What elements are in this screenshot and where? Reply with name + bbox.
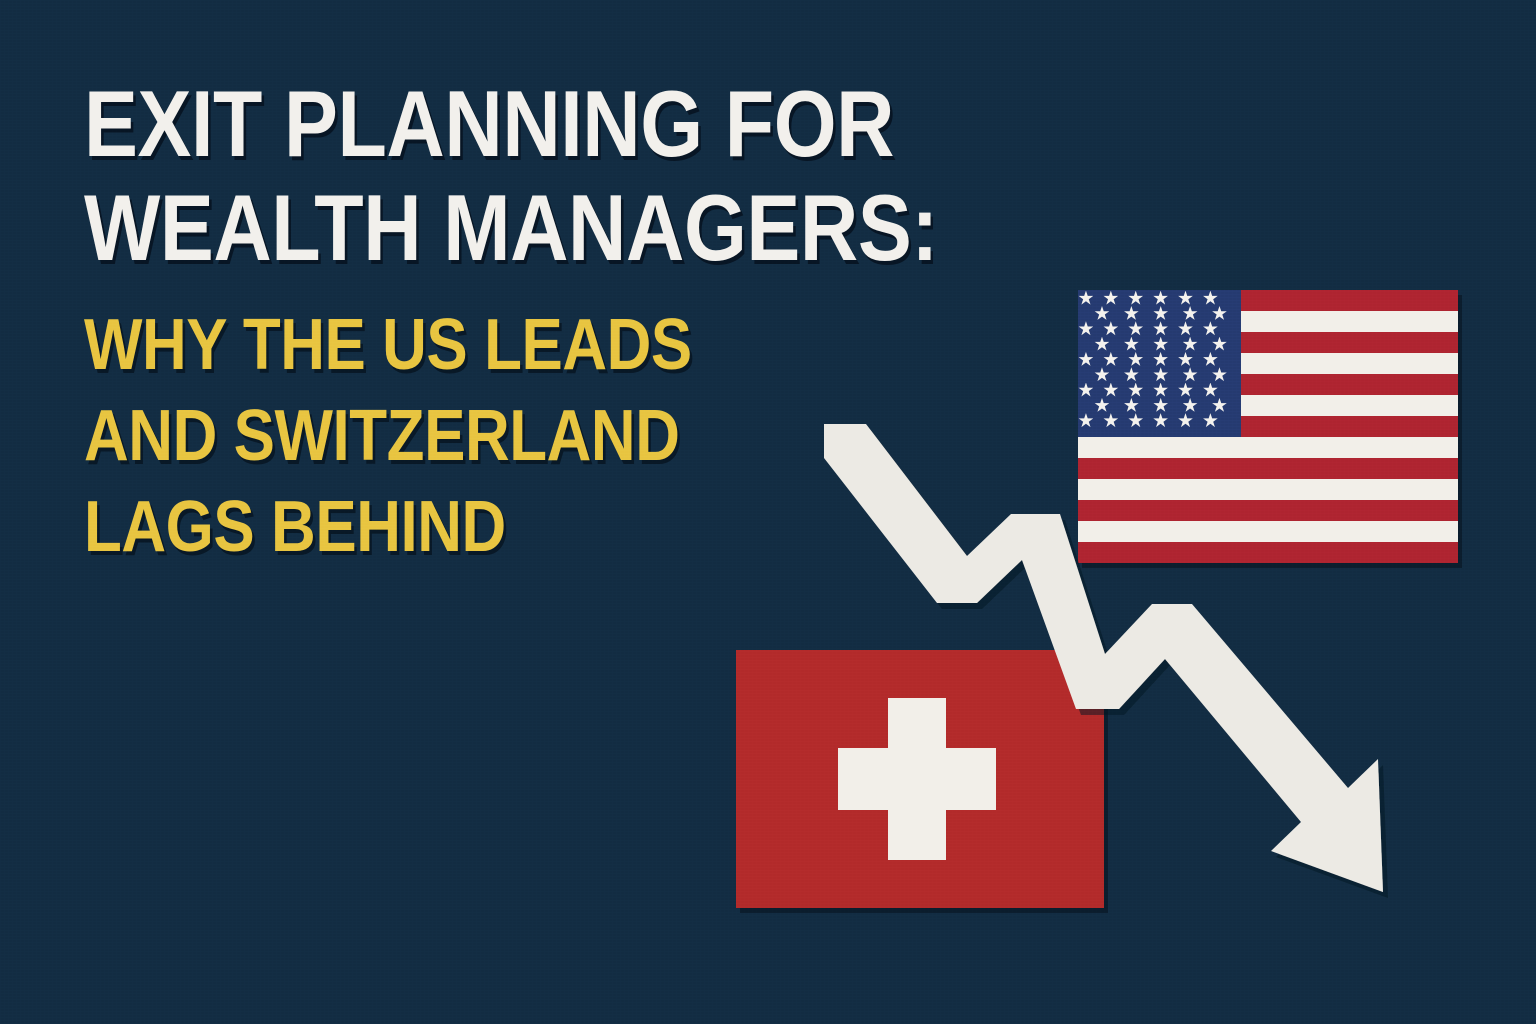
headline-line-3: WHY THE US LEADS <box>84 300 944 391</box>
us-flag-star <box>1203 413 1218 428</box>
us-flag-stripe <box>1078 437 1458 458</box>
us-flag-star <box>1153 383 1168 398</box>
us-flag-star <box>1128 321 1143 336</box>
us-flag-star <box>1153 398 1168 413</box>
us-flag-star <box>1128 383 1143 398</box>
us-flag-star <box>1103 352 1118 367</box>
us-flag-stripe <box>1078 542 1458 563</box>
us-flag-star <box>1103 291 1118 306</box>
us-flag-star <box>1103 383 1118 398</box>
us-flag-star <box>1124 367 1139 382</box>
us-flag-star <box>1103 321 1118 336</box>
us-flag-star <box>1124 398 1139 413</box>
us-flag-star <box>1094 367 1109 382</box>
us-flag-star <box>1178 291 1193 306</box>
us-flag-star <box>1212 306 1227 321</box>
subheadline-block: WHY THE US LEADS AND SWITZERLAND LAGS BE… <box>84 300 1084 573</box>
us-flag-stripe <box>1078 521 1458 542</box>
us-flag-star <box>1153 352 1168 367</box>
us-flag-star <box>1183 367 1198 382</box>
united-states-flag-icon <box>1078 290 1458 563</box>
headline-line-1: EXIT PLANNING FOR <box>84 72 944 176</box>
us-flag-star <box>1094 398 1109 413</box>
us-flag-star <box>1128 291 1143 306</box>
us-flag-star <box>1178 413 1193 428</box>
headline-line-4: AND SWITZERLAND <box>84 391 944 482</box>
us-flag-stripe <box>1078 500 1458 521</box>
us-flag-star <box>1178 352 1193 367</box>
us-flag-star <box>1212 367 1227 382</box>
us-flag-star <box>1153 413 1168 428</box>
us-flag-star <box>1203 352 1218 367</box>
poster-canvas: EXIT PLANNING FOR WEALTH MANAGERS: WHY T… <box>0 0 1536 1024</box>
us-flag-star <box>1153 337 1168 352</box>
us-flag-star <box>1153 321 1168 336</box>
us-flag-star <box>1212 337 1227 352</box>
us-flag-canton <box>1078 290 1241 437</box>
us-flag-star <box>1203 291 1218 306</box>
us-flag-star <box>1183 306 1198 321</box>
headline-block: EXIT PLANNING FOR WEALTH MANAGERS: WHY T… <box>84 72 1084 573</box>
switzerland-flag-icon <box>736 650 1104 908</box>
us-flag-star <box>1153 291 1168 306</box>
us-flag-star <box>1183 398 1198 413</box>
us-flag-star <box>1203 321 1218 336</box>
swiss-cross-horizontal-bar <box>838 748 996 810</box>
us-flag-star <box>1153 306 1168 321</box>
us-flag-star <box>1094 306 1109 321</box>
us-flag-star <box>1103 413 1118 428</box>
headline-line-5: LAGS BEHIND <box>84 482 944 573</box>
us-flag-star <box>1178 321 1193 336</box>
us-flag-star <box>1212 398 1227 413</box>
us-flag-star <box>1203 383 1218 398</box>
headline-line-2: WEALTH MANAGERS: <box>84 176 944 280</box>
us-flag-star <box>1183 337 1198 352</box>
us-flag-star <box>1128 352 1143 367</box>
us-flag-star <box>1124 337 1139 352</box>
us-flag-star <box>1128 413 1143 428</box>
us-flag-star <box>1153 367 1168 382</box>
us-flag-star <box>1178 383 1193 398</box>
us-flag-star <box>1124 306 1139 321</box>
us-flag-stripe <box>1078 479 1458 500</box>
us-flag-star <box>1094 337 1109 352</box>
us-flag-stripe <box>1078 458 1458 479</box>
